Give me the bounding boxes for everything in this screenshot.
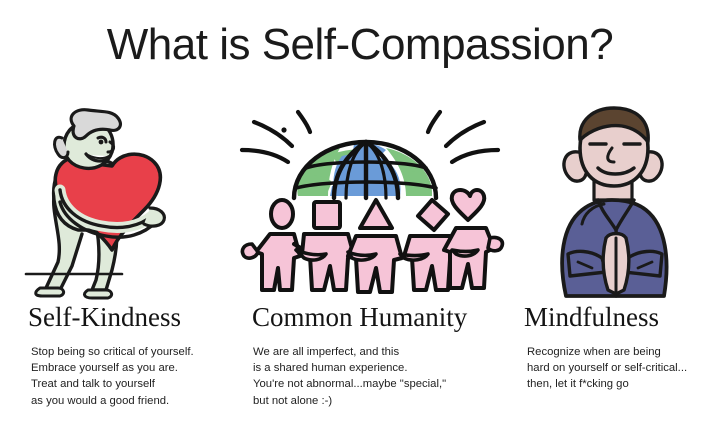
person-meditating-graphic (506, 104, 720, 300)
body-self-kindness: Stop being so critical of yourself. Embr… (31, 344, 194, 409)
head-square (314, 202, 340, 228)
head-diamond (418, 200, 448, 230)
illustration-person-meditating (506, 104, 720, 300)
head-heart (452, 190, 485, 220)
column-common-humanity: Common Humanity We are all imperfect, an… (236, 104, 506, 424)
column-mindfulness: Mindfulness Recognize when are being har… (506, 104, 720, 424)
column-self-kindness: Self-Kindness Stop being so critical of … (0, 104, 236, 424)
illustration-person-hugging-heart (0, 104, 236, 300)
heading-common-humanity: Common Humanity (252, 302, 467, 332)
heading-self-kindness: Self-Kindness (28, 302, 181, 332)
body-mindfulness: Recognize when are being hard on yoursel… (527, 344, 687, 393)
body-common-humanity: We are all imperfect, and this is a shar… (253, 344, 446, 409)
infographic-poster: What is Self-Compassion? (0, 0, 720, 432)
people-globe-graphic (236, 104, 506, 300)
heading-mindfulness: Mindfulness (524, 302, 659, 332)
person-hugging-heart-graphic (0, 104, 236, 300)
head-oval (271, 200, 293, 228)
head-triangle (360, 200, 392, 228)
illustration-people-holding-hands-under-globe (236, 104, 506, 300)
page-title: What is Self-Compassion? (0, 22, 720, 68)
